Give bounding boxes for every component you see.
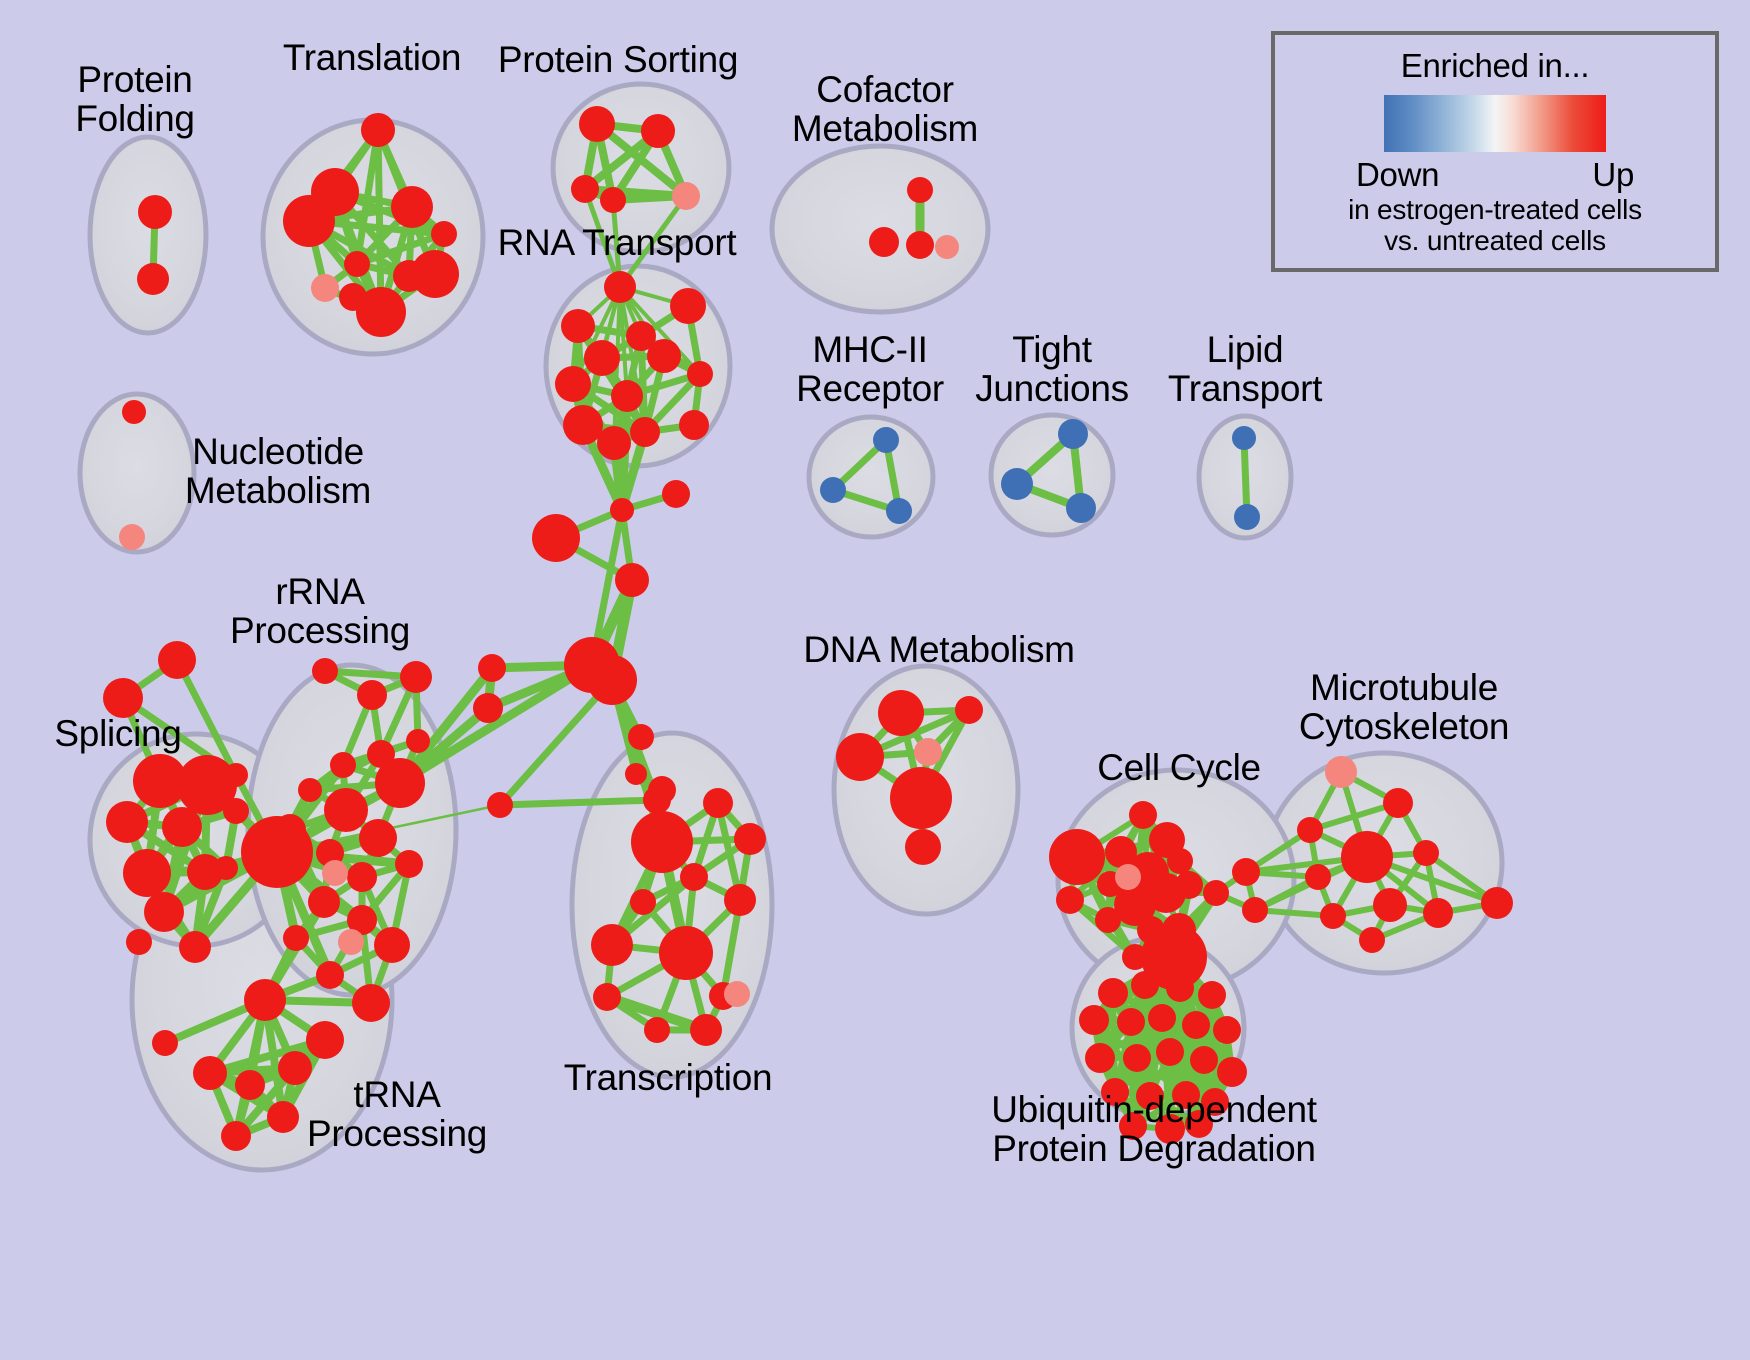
hull-protein-folding [90, 137, 206, 333]
legend-down-label: Down [1356, 156, 1439, 194]
legend-title: Enriched in... [1401, 47, 1589, 85]
hull-protein-sorting [553, 84, 729, 252]
legend-up-label: Up [1592, 156, 1634, 194]
legend-caption-line2: vs. untreated cells [1384, 225, 1606, 256]
legend-caption-line1: in estrogen-treated cells [1348, 194, 1642, 225]
hull-mhc [809, 417, 933, 537]
legend-color-gradient-bar [1384, 95, 1606, 152]
enrichment-network-figure: Protein Folding Translation Protein Sort… [0, 0, 1750, 1360]
legend-box: Enriched in... Down Up in estrogen-treat… [1271, 31, 1719, 272]
legend-endpoint-labels: Down Up [1356, 156, 1634, 194]
